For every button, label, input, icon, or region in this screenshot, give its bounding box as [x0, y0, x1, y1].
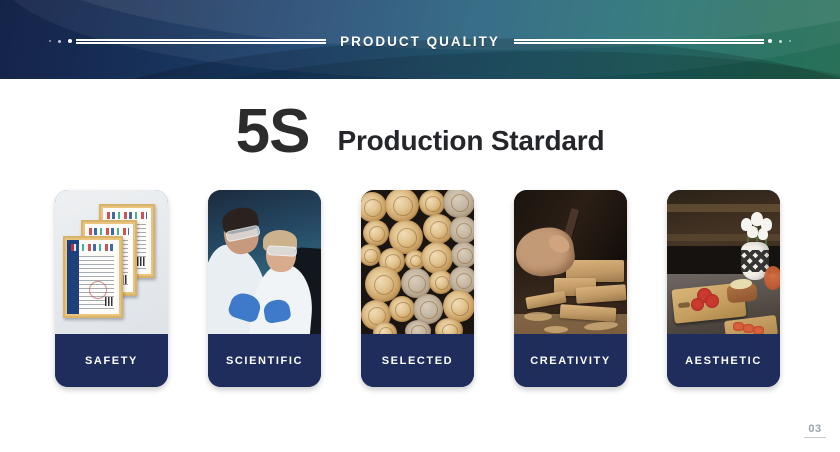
card-safety[interactable]: SAFETY	[55, 190, 168, 387]
dot-small-icon	[49, 40, 52, 43]
page-number: 03	[804, 423, 826, 439]
wood-block	[576, 284, 627, 303]
card-label-selected: SELECTED	[361, 334, 474, 387]
dot-medium-icon	[779, 40, 782, 43]
dot-medium-icon	[58, 40, 61, 43]
card-aesthetic[interactable]: AESTHETIC	[667, 190, 780, 387]
banner-title-row: PRODUCT QUALITY	[0, 28, 840, 54]
page-number-underline	[804, 437, 826, 439]
header-banner: PRODUCT QUALITY	[0, 0, 840, 79]
right-dot-group	[768, 39, 792, 43]
woodcarving-photo	[514, 190, 627, 338]
five-s-badge: 5S	[236, 101, 310, 163]
page-title: 5S Production Stardard	[0, 93, 840, 161]
card-label-text: SELECTED	[382, 355, 453, 367]
page-number-text: 03	[804, 423, 826, 435]
left-divider-line	[76, 38, 326, 44]
card-label-text: AESTHETIC	[685, 355, 762, 367]
bread-slice	[726, 282, 758, 303]
white-tulip	[758, 228, 768, 240]
card-creativity[interactable]: CREATIVITY	[514, 190, 627, 387]
card-label-text: SCIENTIFIC	[226, 355, 303, 367]
tomato-slice	[705, 294, 719, 308]
kitchen-board-photo	[667, 190, 780, 338]
wood-logs-photo	[361, 190, 474, 338]
white-tulip	[747, 226, 758, 238]
orange-flower	[764, 266, 780, 290]
card-label-safety: SAFETY	[55, 334, 168, 387]
tomato-slice	[691, 298, 704, 311]
left-dot-group	[49, 39, 73, 43]
certificate-frame	[63, 236, 123, 318]
card-label-aesthetic: AESTHETIC	[667, 334, 780, 387]
dot-small-icon	[789, 40, 792, 43]
card-label-creativity: CREATIVITY	[514, 334, 627, 387]
dot-large-icon	[68, 39, 72, 43]
banner-title: PRODUCT QUALITY	[326, 34, 514, 49]
dot-large-icon	[768, 39, 772, 43]
card-label-text: CREATIVITY	[530, 355, 611, 367]
slide: PRODUCT QUALITY 5S Production Stardard	[0, 0, 840, 452]
card-scientific[interactable]: SCIENTIFIC	[208, 190, 321, 387]
safety-goggles	[267, 245, 297, 257]
page-subtitle: Production Stardard	[337, 127, 604, 155]
wood-shaving	[524, 312, 552, 321]
card-label-text: SAFETY	[85, 355, 138, 367]
card-selected[interactable]: SELECTED	[361, 190, 474, 387]
wood-shaving	[544, 326, 568, 333]
right-divider-line	[514, 38, 764, 44]
certificates-photo	[55, 190, 168, 338]
card-row: SAFETY SCIENTIFIC	[55, 190, 785, 387]
kitchen-shelf	[667, 204, 780, 212]
card-label-scientific: SCIENTIFIC	[208, 334, 321, 387]
laboratory-photo	[208, 190, 321, 338]
